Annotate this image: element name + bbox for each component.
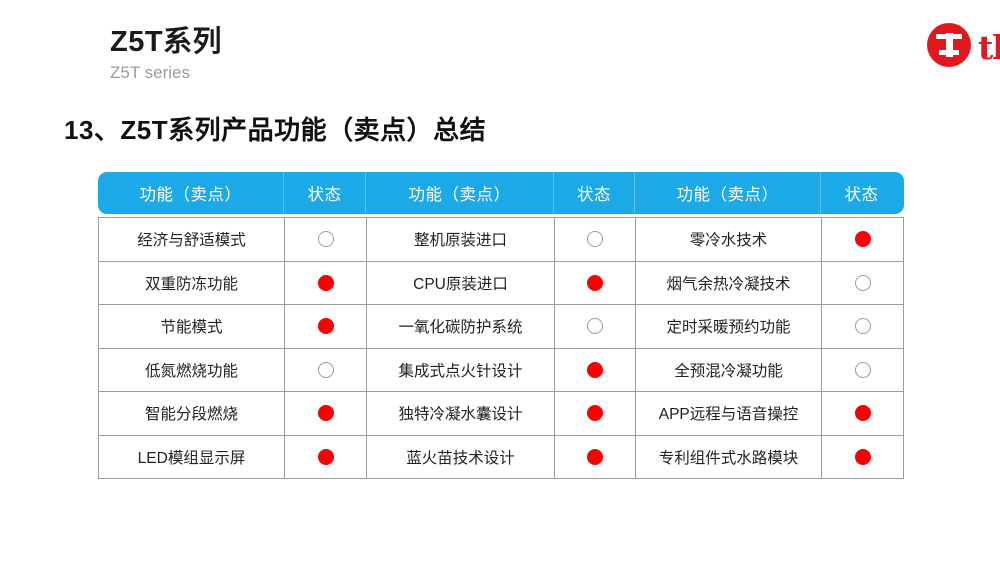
feature-cell: 经济与舒适模式 bbox=[99, 218, 285, 261]
status-cell bbox=[822, 305, 903, 348]
status-dot-empty-icon bbox=[855, 318, 871, 334]
column-header-status-3: 状态 bbox=[821, 172, 902, 214]
status-cell bbox=[822, 349, 903, 392]
status-dot-empty-icon bbox=[855, 362, 871, 378]
thermex-emblem-icon bbox=[927, 23, 971, 67]
status-cell bbox=[285, 349, 367, 392]
feature-cell: 智能分段燃烧 bbox=[99, 392, 285, 435]
table-body: 经济与舒适模式整机原装进口零冷水技术双重防冻功能CPU原装进口烟气余热冷凝技术节… bbox=[98, 217, 904, 479]
status-dot-filled-icon bbox=[855, 449, 871, 465]
status-dot-empty-icon bbox=[587, 318, 603, 334]
column-header-feature-2: 功能（卖点） bbox=[366, 172, 554, 214]
emblem-bar-bottom bbox=[939, 50, 959, 55]
status-cell bbox=[555, 392, 636, 435]
status-cell bbox=[555, 262, 636, 305]
feature-cell: 集成式点火针设计 bbox=[367, 349, 555, 392]
table-header-row: 功能（卖点） 状态 功能（卖点） 状态 功能（卖点） 状态 bbox=[98, 172, 904, 214]
column-header-status-2: 状态 bbox=[554, 172, 635, 214]
status-dot-filled-icon bbox=[855, 405, 871, 421]
column-header-feature-3: 功能（卖点） bbox=[635, 172, 821, 214]
feature-cell: 低氮燃烧功能 bbox=[99, 349, 285, 392]
status-dot-filled-icon bbox=[587, 275, 603, 291]
feature-cell: 整机原装进口 bbox=[367, 218, 555, 261]
feature-cell: CPU原装进口 bbox=[367, 262, 555, 305]
feature-cell: 节能模式 bbox=[99, 305, 285, 348]
feature-cell: 独特冷凝水囊设计 bbox=[367, 392, 555, 435]
status-cell bbox=[285, 392, 367, 435]
status-cell bbox=[555, 436, 636, 479]
status-dot-filled-icon bbox=[855, 231, 871, 247]
status-cell bbox=[555, 305, 636, 348]
status-dot-filled-icon bbox=[318, 275, 334, 291]
table-row: 双重防冻功能CPU原装进口烟气余热冷凝技术 bbox=[99, 261, 903, 305]
feature-cell: 烟气余热冷凝技术 bbox=[636, 262, 822, 305]
status-dot-filled-icon bbox=[587, 362, 603, 378]
feature-cell: 零冷水技术 bbox=[636, 218, 822, 261]
feature-cell: 定时采暖预约功能 bbox=[636, 305, 822, 348]
status-cell bbox=[285, 218, 367, 261]
status-cell bbox=[555, 349, 636, 392]
table-row: 低氮燃烧功能集成式点火针设计全预混冷凝功能 bbox=[99, 348, 903, 392]
status-cell bbox=[822, 392, 903, 435]
feature-cell: 专利组件式水路模块 bbox=[636, 436, 822, 479]
table-row: 经济与舒适模式整机原装进口零冷水技术 bbox=[99, 217, 903, 261]
page-title: Z5T系列 bbox=[110, 26, 222, 59]
status-cell bbox=[285, 262, 367, 305]
table-row: 节能模式一氧化碳防护系统定时采暖预约功能 bbox=[99, 304, 903, 348]
feature-summary-table: 功能（卖点） 状态 功能（卖点） 状态 功能（卖点） 状态 经济与舒适模式整机原… bbox=[98, 172, 904, 479]
status-dot-empty-icon bbox=[855, 275, 871, 291]
logo-wordmark: thermex bbox=[978, 31, 1000, 64]
status-cell bbox=[555, 218, 636, 261]
slide-title-block: Z5T系列 Z5T series bbox=[110, 26, 222, 83]
status-dot-filled-icon bbox=[318, 449, 334, 465]
table-row: LED模组显示屏蓝火苗技术设计专利组件式水路模块 bbox=[99, 435, 903, 479]
status-dot-filled-icon bbox=[318, 405, 334, 421]
feature-cell: APP远程与语音操控 bbox=[636, 392, 822, 435]
status-dot-filled-icon bbox=[587, 449, 603, 465]
status-cell bbox=[822, 436, 903, 479]
table-row: 智能分段燃烧独特冷凝水囊设计APP远程与语音操控 bbox=[99, 391, 903, 435]
feature-cell: 全预混冷凝功能 bbox=[636, 349, 822, 392]
status-dot-empty-icon bbox=[318, 231, 334, 247]
feature-cell: 双重防冻功能 bbox=[99, 262, 285, 305]
feature-cell: 一氧化碳防护系统 bbox=[367, 305, 555, 348]
status-cell bbox=[285, 436, 367, 479]
status-cell bbox=[822, 218, 903, 261]
section-heading: 13、Z5T系列产品功能（卖点）总结 bbox=[64, 110, 486, 147]
status-dot-filled-icon bbox=[318, 318, 334, 334]
column-header-feature-1: 功能（卖点） bbox=[98, 172, 284, 214]
feature-cell: 蓝火苗技术设计 bbox=[367, 436, 555, 479]
column-header-status-1: 状态 bbox=[284, 172, 366, 214]
status-cell bbox=[822, 262, 903, 305]
status-cell bbox=[285, 305, 367, 348]
status-dot-empty-icon bbox=[318, 362, 334, 378]
brand-logo: CORPORATION thermex ® bbox=[927, 22, 978, 68]
page-subtitle: Z5T series bbox=[110, 63, 222, 83]
feature-cell: LED模组显示屏 bbox=[99, 436, 285, 479]
status-dot-empty-icon bbox=[587, 231, 603, 247]
status-dot-filled-icon bbox=[587, 405, 603, 421]
